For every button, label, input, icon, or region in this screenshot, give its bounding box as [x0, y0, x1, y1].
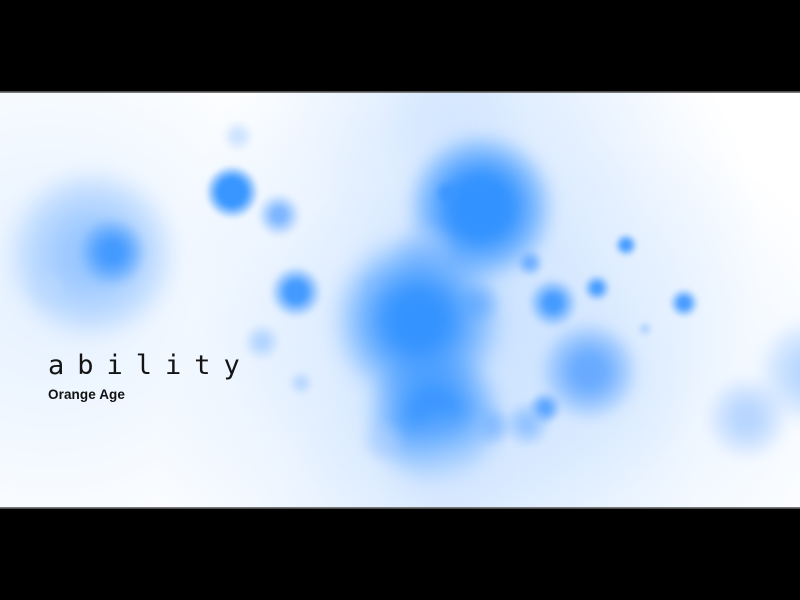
page-title: ability	[48, 352, 253, 379]
subtitle: Orange Age	[48, 388, 253, 402]
bokeh-circle-crisp-dot-upper	[205, 165, 259, 219]
bokeh-circle-tiny-dot-right-edge	[637, 321, 653, 337]
bokeh-circle-faint-left-dot	[28, 268, 68, 308]
video-stage: ability Orange Age	[0, 91, 800, 509]
bokeh-circle-dot-right-small	[583, 274, 611, 302]
bokeh-circle-hero-blob-center	[330, 232, 506, 408]
bokeh-circle-dot-right-of-hero	[516, 249, 544, 277]
video-frame: ability Orange Age	[0, 0, 800, 600]
bokeh-circle-tiny-dot-title-right	[288, 370, 314, 396]
bokeh-circle-mid-dot-center-left	[270, 266, 322, 318]
letterbox-seam-top	[0, 91, 800, 93]
bokeh-circle-dot-lower-left	[360, 418, 406, 464]
bokeh-circle-ring-artifact-core	[435, 180, 461, 206]
letterbox-bar-bottom	[0, 509, 800, 600]
bokeh-circle-dot-lower-right	[469, 404, 513, 448]
bokeh-circle-blob-right-mid	[528, 278, 578, 328]
bokeh-circle-dot-left-of-center	[362, 275, 382, 295]
bokeh-circle-blob-right-lower	[538, 320, 640, 422]
bokeh-circle-faint-lower-center	[383, 406, 511, 509]
letterbox-bar-top	[0, 0, 800, 91]
bokeh-circle-dot-right-lower-b	[503, 400, 551, 448]
bokeh-circle-faint-top-center	[382, 91, 522, 192]
bokeh-circle-faint-top-ring	[416, 91, 488, 156]
bokeh-circle-hero-blob-upper	[405, 131, 557, 283]
bokeh-circle-pale-left-of-hero	[391, 220, 457, 286]
ambient-glow-wash	[0, 91, 800, 509]
bokeh-circle-dot-below-hero	[458, 281, 502, 325]
bokeh-circle-dot-right-lower-a	[528, 391, 562, 425]
bokeh-circle-dot-far-right-upper	[614, 233, 638, 257]
bokeh-circle-pale-left-large	[4, 166, 180, 342]
bokeh-circle-ring-artifact-upper	[422, 167, 474, 219]
bokeh-circle-hero-blob-lower	[363, 343, 505, 485]
bokeh-circle-tiny-pale-top	[222, 120, 254, 152]
bokeh-circle-soft-dot-upper-right	[257, 193, 301, 237]
title-block: ability Orange Age	[48, 352, 253, 402]
bokeh-circle-pale-blob-edge-right	[756, 316, 800, 428]
bokeh-circle-pale-blob-bottom-right	[704, 375, 790, 461]
bokeh-circle-dot-far-right-mid	[669, 288, 699, 318]
letterbox-seam-bottom	[0, 507, 800, 509]
bokeh-circle-pale-left-core	[77, 217, 147, 287]
